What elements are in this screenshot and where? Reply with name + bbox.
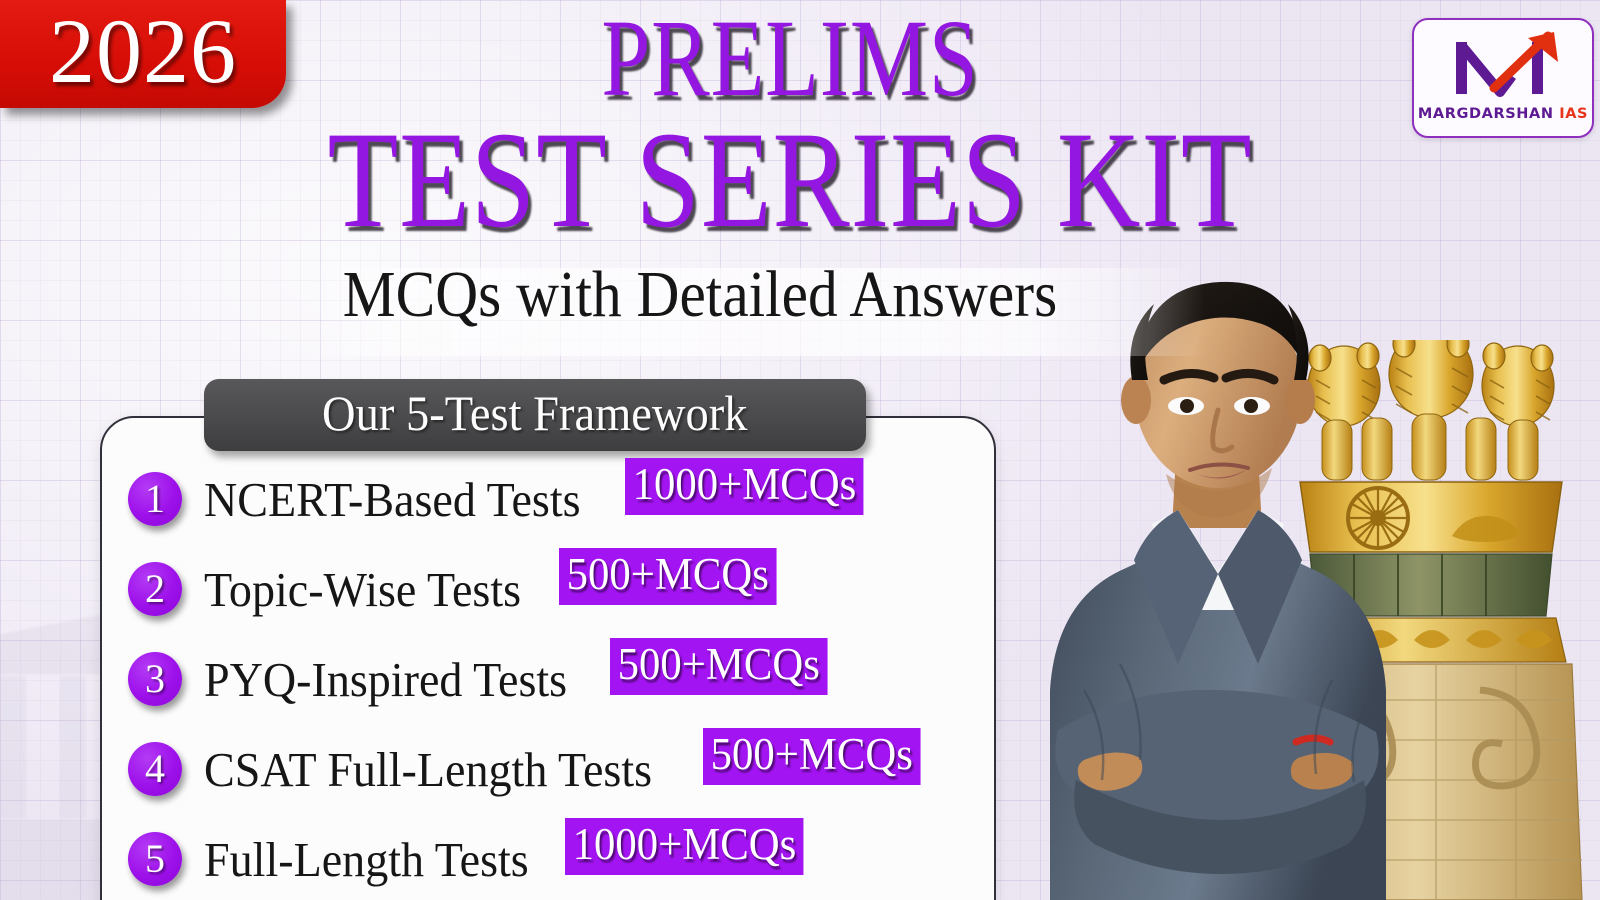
framework-list: 1 NCERT-Based Tests 1000+MCQs 2 Topic-Wi… (128, 470, 988, 900)
brand-logo-card[interactable]: MARGDARSHAN IAS (1412, 18, 1594, 138)
m-growth-arrow-icon (1442, 30, 1574, 100)
list-item-label: CSAT Full-Length Tests (204, 745, 652, 794)
list-item-label: PYQ-Inspired Tests (204, 655, 567, 704)
list-item-label: Full-Length Tests (204, 835, 529, 884)
list-item-label: NCERT-Based Tests (204, 475, 581, 524)
list-item-count-badge: 1000+MCQs (565, 818, 804, 875)
brand-name-secondary: IAS (1559, 106, 1588, 122)
subtitle: MCQs with Detailed Answers (250, 262, 1150, 328)
year-badge: 2026 (0, 0, 286, 108)
list-item-label: Topic-Wise Tests (204, 565, 521, 614)
brand-name-primary: MARGDARSHAN (1418, 106, 1554, 122)
list-item-number-badge: 5 (128, 832, 182, 886)
list-item-number-badge: 1 (128, 472, 182, 526)
list-item[interactable]: 1 NCERT-Based Tests 1000+MCQs (128, 470, 988, 528)
brand-logo-text: MARGDARSHAN IAS (1414, 106, 1592, 122)
promo-poster: 2026 MARGDARSHAN IAS PRELIMS TEST SERIES… (0, 0, 1600, 900)
list-item-count-badge: 1000+MCQs (625, 458, 864, 515)
list-item-number-badge: 4 (128, 742, 182, 796)
list-item[interactable]: 4 CSAT Full-Length Tests 500+MCQs (128, 740, 988, 798)
list-item[interactable]: 5 Full-Length Tests 1000+MCQs (128, 830, 988, 888)
list-item-number-badge: 3 (128, 652, 182, 706)
framework-heading-label: Our 5-Test Framework (322, 388, 747, 438)
list-item[interactable]: 3 PYQ-Inspired Tests 500+MCQs (128, 650, 988, 708)
list-item-count-badge: 500+MCQs (559, 548, 776, 605)
framework-heading-pill: Our 5-Test Framework (204, 379, 866, 451)
year-badge-label: 2026 (49, 5, 237, 97)
list-item-count-badge: 500+MCQs (703, 728, 920, 785)
list-item-count-badge: 500+MCQs (610, 638, 827, 695)
list-item-number-badge: 2 (128, 562, 182, 616)
list-item[interactable]: 2 Topic-Wise Tests 500+MCQs (128, 560, 988, 618)
